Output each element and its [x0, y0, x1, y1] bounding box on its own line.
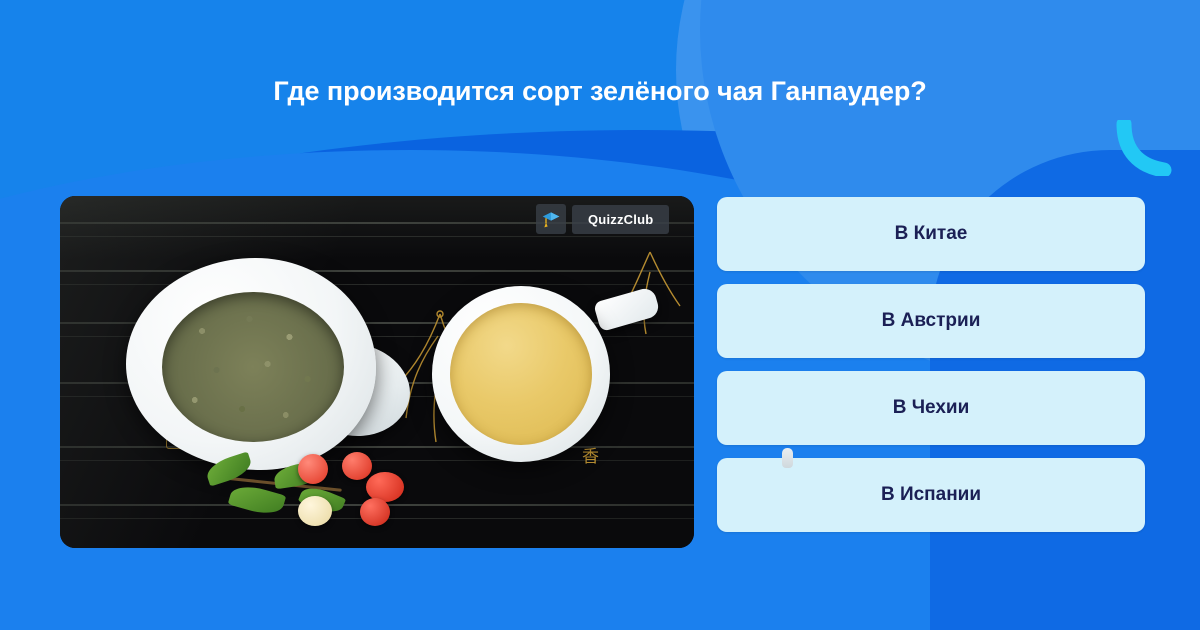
answer-option-label: В Китае [895, 223, 968, 245]
brand-name: QuizzClub [572, 205, 669, 234]
scrollbar-artifact [782, 448, 793, 468]
question-image-card: 香 印 [60, 196, 694, 548]
answer-option-label: В Чехии [893, 397, 970, 419]
answer-option-label: В Испании [881, 484, 981, 506]
answer-options-list: В Китае В Австрии В Чехии В Испании [717, 197, 1145, 532]
answer-option-label: В Австрии [882, 310, 981, 332]
answer-option-3[interactable]: В Чехии [717, 371, 1145, 445]
answer-option-1[interactable]: В Китае [717, 197, 1145, 271]
cyan-arc-icon [1116, 120, 1178, 176]
brewed-tea-liquid [450, 303, 592, 445]
tea-cup [432, 286, 610, 462]
brand-watermark: QuizzClub [536, 204, 669, 234]
gunpowder-tea-leaves [162, 292, 344, 442]
rosehip-berry [360, 498, 390, 526]
answer-option-2[interactable]: В Австрии [717, 284, 1145, 358]
quiz-card: Где производится сорт зелёного чая Ганпа… [0, 0, 1200, 630]
question-title: Где производится сорт зелёного чая Ганпа… [0, 76, 1200, 107]
rosehip-berry [342, 452, 372, 480]
tea-photograph: 香 印 [60, 196, 694, 548]
rosehip-berry-pale [298, 496, 332, 526]
answer-option-4[interactable]: В Испании [717, 458, 1145, 532]
graduation-cap-icon [536, 204, 566, 234]
rosehip-berry [298, 454, 328, 484]
